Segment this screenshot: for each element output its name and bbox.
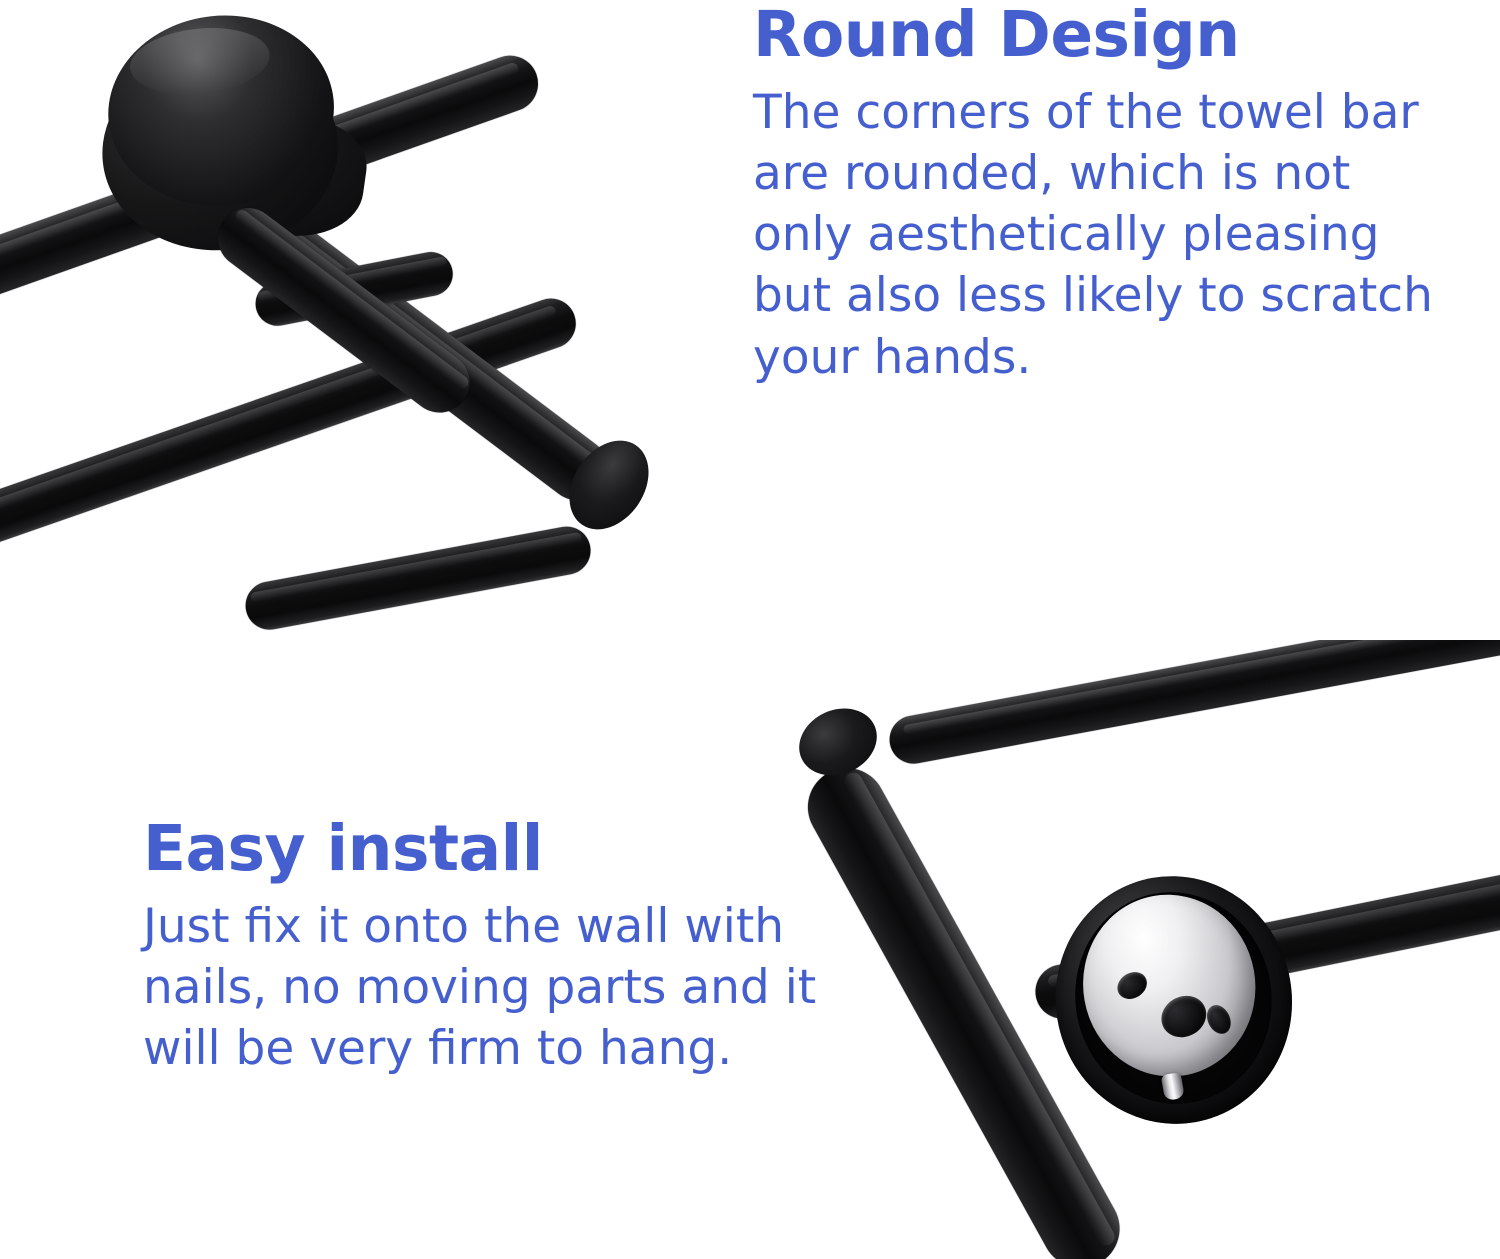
feature-heading-easy-install: Easy install: [143, 816, 833, 882]
feature-body-round-design: The corners of the towel bar are rounded…: [753, 82, 1463, 387]
product-photo-towel-bar-corner: [0, 0, 760, 700]
product-photo-mounting-base: [740, 640, 1500, 1259]
feature-block-easy-install: Easy install Just fix it onto the wall w…: [143, 816, 833, 1079]
feature-heading-round-design: Round Design: [753, 2, 1463, 68]
feature-body-easy-install: Just fix it onto the wall with nails, no…: [143, 896, 833, 1079]
photo-clip-mask-bottom: [0, 690, 760, 700]
post-top-end-cap: [788, 696, 887, 787]
upper-rail-tube: [886, 640, 1500, 768]
screw-hole-right: [1202, 1001, 1235, 1038]
product-feature-image: Round Design The corners of the towel ba…: [0, 0, 1500, 1259]
mounting-base-assembly: [1036, 857, 1312, 1144]
feature-block-round-design: Round Design The corners of the towel ba…: [753, 2, 1463, 388]
screw-hole-left: [1112, 967, 1152, 1005]
screw-hole-center: [1154, 988, 1213, 1045]
lower-bar-connector-stub: [242, 523, 595, 634]
